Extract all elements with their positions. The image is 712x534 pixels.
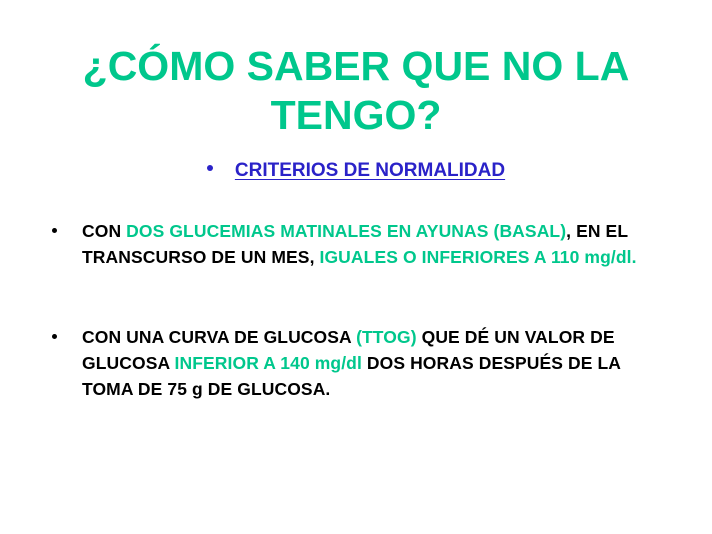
slide-title-line-1: ¿CÓMO SABER QUE NO LA bbox=[0, 42, 712, 91]
text-run: CON UNA CURVA DE GLUCOSA bbox=[82, 327, 356, 347]
text-run: (TTOG) bbox=[356, 327, 417, 347]
bullet-icon bbox=[207, 165, 213, 171]
bullet-icon bbox=[52, 228, 57, 233]
subtitle-text: CRITERIOS DE NORMALIDAD bbox=[235, 160, 505, 182]
text-run: IGUALES O INFERIORES A 110 mg/dl. bbox=[320, 247, 637, 267]
bullet-paragraph-2: CON UNA CURVA DE GLUCOSA (TTOG) QUE DÉ U… bbox=[52, 324, 664, 402]
slide-canvas: ¿CÓMO SABER QUE NO LA TENGO? CRITERIOS D… bbox=[0, 0, 712, 534]
bullet-row: CON DOS GLUCEMIAS MATINALES EN AYUNAS (B… bbox=[52, 218, 664, 270]
bullet-paragraph-2-text: CON UNA CURVA DE GLUCOSA (TTOG) QUE DÉ U… bbox=[82, 324, 664, 402]
subtitle-row: CRITERIOS DE NORMALIDAD bbox=[0, 160, 712, 182]
bullet-row: CON UNA CURVA DE GLUCOSA (TTOG) QUE DÉ U… bbox=[52, 324, 664, 402]
text-run: DOS GLUCEMIAS MATINALES EN AYUNAS (BASAL… bbox=[126, 221, 566, 241]
text-run: CON bbox=[82, 221, 126, 241]
slide-title: ¿CÓMO SABER QUE NO LA TENGO? bbox=[0, 42, 712, 140]
bullet-paragraph-1-text: CON DOS GLUCEMIAS MATINALES EN AYUNAS (B… bbox=[82, 218, 664, 270]
text-run: INFERIOR A 140 mg/dl bbox=[175, 353, 362, 373]
bullet-icon bbox=[52, 334, 57, 339]
bullet-paragraph-1: CON DOS GLUCEMIAS MATINALES EN AYUNAS (B… bbox=[52, 218, 664, 270]
slide-title-line-2: TENGO? bbox=[0, 91, 712, 140]
